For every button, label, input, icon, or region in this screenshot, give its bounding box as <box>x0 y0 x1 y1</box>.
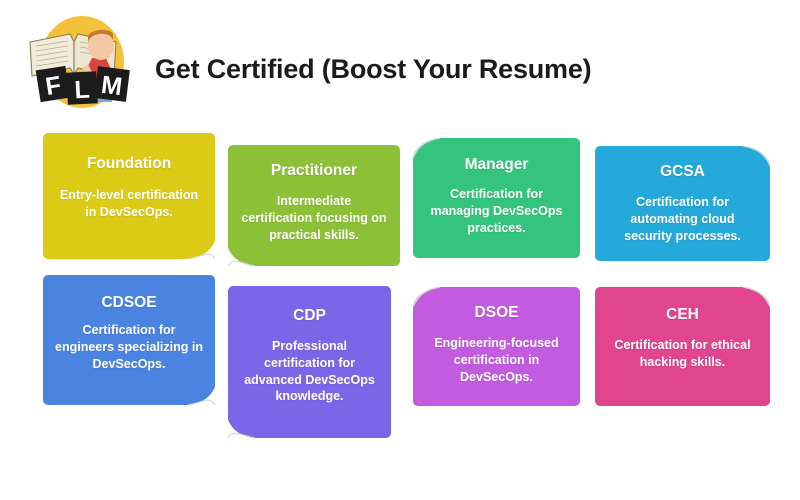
page-header: F L M Get Certified (Boost Your Resume) <box>0 0 800 120</box>
card-title: Manager <box>425 156 568 174</box>
card-description: Certification for ethical hacking skills… <box>607 337 758 371</box>
certification-card-gcsa[interactable]: GCSACertification for automating cloud s… <box>595 146 770 261</box>
folded-corner-icon <box>186 236 216 260</box>
card-title: DSOE <box>425 304 568 322</box>
card-description: Certification for engineers specializing… <box>55 322 203 373</box>
card-title: Practitioner <box>240 162 388 180</box>
flm-reading-child-logo: F L M <box>22 12 140 112</box>
certification-card-ceh[interactable]: CEHCertification for ethical hacking ski… <box>595 287 770 406</box>
card-description: Intermediate certification focusing on p… <box>240 193 388 244</box>
card-content: DSOEEngineering-focused certification in… <box>425 287 568 385</box>
folded-corner-icon <box>227 415 257 439</box>
certification-card-practitioner[interactable]: PractitionerIntermediate certification f… <box>228 145 400 266</box>
card-content: CDPProfessional certification for advanc… <box>240 286 379 405</box>
certification-card-manager[interactable]: ManagerCertification for managing DevSec… <box>413 138 580 258</box>
card-description: Engineering-focused certification in Dev… <box>425 335 568 386</box>
card-title: CDSOE <box>55 294 203 312</box>
card-description: Certification for managing DevSecOps pra… <box>425 186 568 237</box>
folded-corner-icon <box>227 243 257 267</box>
card-title: GCSA <box>607 163 758 181</box>
card-description: Certification for automating cloud secur… <box>607 194 758 245</box>
certification-card-dsoe[interactable]: DSOEEngineering-focused certification in… <box>413 287 580 406</box>
card-content: ManagerCertification for managing DevSec… <box>425 138 568 236</box>
card-description: Professional certification for advanced … <box>240 338 379 406</box>
card-description: Entry-level certification in DevSecOps. <box>55 187 203 221</box>
card-content: CEHCertification for ethical hacking ski… <box>607 287 758 371</box>
card-title: CDP <box>240 307 379 325</box>
certification-card-foundation[interactable]: FoundationEntry-level certification in D… <box>43 133 215 259</box>
card-title: CEH <box>607 306 758 324</box>
svg-text:L: L <box>74 76 91 105</box>
card-content: GCSACertification for automating cloud s… <box>607 146 758 244</box>
card-content: FoundationEntry-level certification in D… <box>55 133 203 221</box>
card-content: PractitionerIntermediate certification f… <box>240 145 388 243</box>
certification-card-cdp[interactable]: CDPProfessional certification for advanc… <box>228 286 391 438</box>
svg-text:M: M <box>100 71 124 101</box>
card-title: Foundation <box>55 155 203 173</box>
card-content: CDSOECertification for engineers special… <box>55 275 203 372</box>
page-title: Get Certified (Boost Your Resume) <box>155 54 591 85</box>
certification-card-cdsoe[interactable]: CDSOECertification for engineers special… <box>43 275 215 405</box>
folded-corner-icon <box>186 382 216 406</box>
